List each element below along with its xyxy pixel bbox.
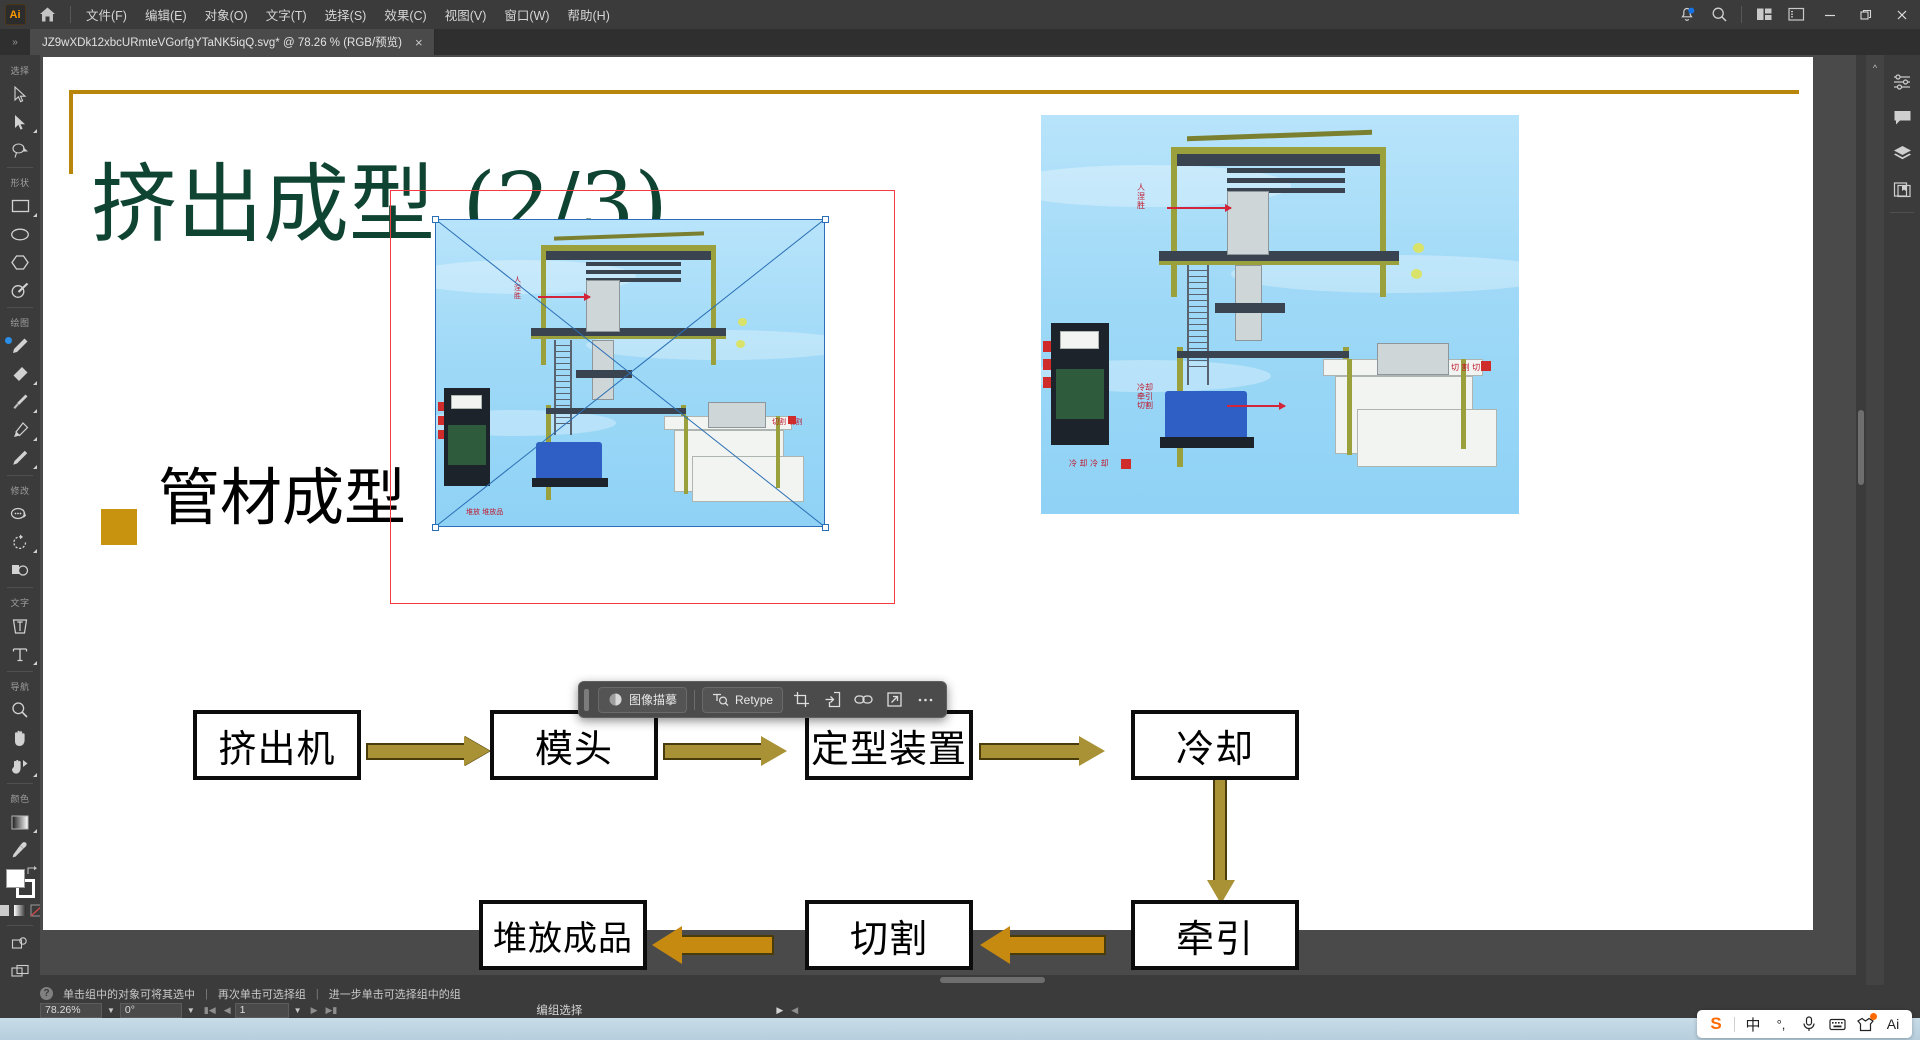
link-button[interactable] [850,687,876,713]
properties-panel-button[interactable] [1884,63,1920,99]
eraser-tool[interactable] [0,360,40,388]
flow-node-cutting[interactable]: 切割 [805,900,973,970]
tool-divider [7,671,33,672]
tools-panel: 选择 形状 [0,55,40,985]
tool-flyout-indicator [33,829,37,833]
gradient-icon [10,814,30,831]
menu-effect[interactable]: 效果(C) [375,0,435,29]
pen-tool[interactable] [0,416,40,444]
color-square-icon [0,904,10,917]
screen-mode-icon [11,964,30,979]
tool-group-label-type: 文字 [0,591,40,612]
flow-arrow-extruder-to-die [366,736,490,766]
eyedropper-icon [11,841,29,859]
ime-voice-icon[interactable] [1796,1012,1822,1036]
artboard-number-input[interactable]: 1 [235,1003,289,1018]
window-close-button[interactable] [1884,0,1920,29]
sogou-logo-icon[interactable]: S [1703,1012,1729,1036]
flow-arrow-cutting-to-stacking [652,926,774,964]
document-tab-close-icon[interactable]: × [412,36,426,49]
horizontal-scroll-thumb[interactable] [940,977,1045,983]
window-minimize-button[interactable] [1812,0,1848,29]
gradient-tool[interactable] [0,808,40,836]
rotate-tool[interactable] [0,528,40,556]
panel-rail [1884,55,1920,985]
retype-label: Retype [735,693,773,707]
layers-panel-button[interactable] [1884,135,1920,171]
document-tab[interactable]: JZ9wXDk12xbcURmteVGorfgYTaNK5iqQ.svg* @ … [30,29,435,55]
cursor-arrow-solid-icon [13,114,28,131]
ime-keyboard-icon[interactable] [1824,1012,1850,1036]
tool-divider [7,307,33,308]
libraries-panel-button[interactable] [1884,171,1920,207]
magnifier-icon [11,701,29,719]
ime-toolbar[interactable]: S 中 °, Ai [1697,1010,1912,1038]
menu-view[interactable]: 视图(V) [436,0,496,29]
blob-brush-tool[interactable] [0,444,40,472]
zoom-dropdown-chevron-down-icon[interactable]: ▼ [102,1006,120,1015]
blob-brush-icon [11,449,29,467]
lasso-tool[interactable] [0,136,40,164]
status-hint-3: 进一步单击可选择组中的组 [329,986,461,1002]
workspace-switcher-button[interactable] [1780,0,1812,29]
app-logo-icon: Ai [5,4,26,25]
tool-group-label-select: 选择 [0,59,40,80]
draw-normal-icon [11,936,29,951]
right-rail-collapse[interactable]: ^ [1866,55,1884,985]
retype-icon [712,692,729,707]
shaper-icon [11,282,30,299]
minimize-icon [1824,9,1836,21]
flow-node-die-head[interactable]: 模头 [490,710,658,780]
ctx-divider [694,690,695,710]
tool-flyout-indicator [33,549,37,553]
menu-edit[interactable]: 编辑(E) [136,0,196,29]
keyboard-icon [1829,1018,1846,1031]
question-mark-icon[interactable]: ? [40,987,53,1000]
artboard-dropdown-chevron-down-icon[interactable]: ▼ [289,1006,307,1015]
flow-node-extruder[interactable]: 挤出机 [193,710,361,780]
first-artboard-icon[interactable]: ▮◀ [200,1005,220,1016]
gradient-swatch-button[interactable] [13,904,27,922]
paintbrush-icon [11,393,29,411]
menu-bar: Ai 文件(F) 编辑(E) 对象(O) 文字(T) 选择(S) 效果(C) 视… [0,0,1920,29]
ime-language-icon[interactable]: 中 [1740,1012,1766,1036]
image-trace-button[interactable]: 图像描摹 [598,687,687,713]
smooth-tool[interactable] [0,500,40,528]
ellipse-icon [10,227,30,242]
embed-arrow-icon [824,691,841,708]
arrange-documents-button[interactable] [1748,0,1780,29]
home-button[interactable] [30,0,64,29]
libraries-icon [1893,181,1912,198]
menu-bar-right [1671,0,1920,29]
direct-selection-tool[interactable] [0,108,40,136]
menu-select[interactable]: 选择(S) [316,0,376,29]
tool-flyout-indicator [33,381,37,385]
status-bar: ? 单击组中的对象可将其选中 | 再次单击可选择组 | 进一步单击可选择组中的组… [0,985,1920,1018]
comments-panel-button[interactable] [1884,99,1920,135]
menu-help[interactable]: 帮助(H) [559,0,619,29]
status-collapse-icon[interactable]: ◀ [787,1005,802,1016]
menu-type[interactable]: 文字(T) [257,0,316,29]
bullet-marker [101,509,137,545]
arrow-out-box-icon [886,691,903,708]
flow-arrow-haul-to-cutting [980,926,1106,964]
microphone-icon [1802,1016,1816,1032]
flow-arrow-cooling-to-haul [1207,780,1235,904]
tool-flyout-indicator [33,437,37,441]
tool-group-label-shape: 形状 [0,171,40,192]
last-artboard-icon[interactable]: ▶▮ [321,1005,341,1016]
chain-link-icon [854,693,873,706]
document-tab-bar: » JZ9wXDk12xbcURmteVGorfgYTaNK5iqQ.svg* … [0,29,1920,55]
notification-bell-icon [1679,7,1695,23]
rectangle-tool[interactable] [0,192,40,220]
menu-object[interactable]: 对象(O) [196,0,257,29]
rectangle-icon [11,199,30,214]
menu-window[interactable]: 窗口(W) [495,0,558,29]
flow-arrow-die-to-sizing [663,736,787,766]
shaper-tool[interactable] [0,276,40,304]
sliders-icon [1893,73,1912,90]
zoom-level-input[interactable]: 78.26% [40,1003,102,1018]
search-button[interactable] [1703,0,1735,29]
rotate-view-tool[interactable] [0,752,40,780]
notification-bell-button[interactable] [1671,0,1703,29]
drawing-modes-button[interactable] [0,929,40,957]
status-mode-label: 编组选择 [536,1002,582,1018]
speech-bubble-icon [1893,109,1912,126]
status-controls: 78.26% ▼ 0° ▼ ▮◀ ◀ 1 ▼ ▶ ▶▮ 编组选择 ▶ ◀ [40,1002,802,1018]
canvas-area[interactable]: 挤出成型 (2/3) 管材成型 [40,55,1866,985]
placed-image-extrusion-line-large[interactable]: 人涅胜 冷却牵引切割 切 割 切 割 冷 却 冷 却 [1041,115,1519,514]
app-logo: Ai [0,0,30,29]
color-mode-buttons [0,902,40,922]
zoom-tool[interactable] [0,696,40,724]
status-expand-icon[interactable]: ▶ [772,1005,787,1016]
group-selection-bounds[interactable] [390,190,895,604]
window-restore-button[interactable] [1848,0,1884,29]
eyedropper-tool[interactable] [0,836,40,864]
embed-image-button[interactable] [819,687,845,713]
selection-tool[interactable] [0,80,40,108]
vertical-scroll-thumb[interactable] [1858,410,1864,485]
home-icon [39,6,56,23]
panel-expand-arrows[interactable]: » [0,29,30,55]
polygon-icon [11,254,29,271]
toolbar-drag-handle[interactable] [584,689,589,711]
type-T-icon [12,646,28,663]
retype-button[interactable]: Retype [702,687,783,713]
workspace-switcher-icon [1788,7,1805,22]
flow-node-haul-off[interactable]: 牵引 [1131,900,1299,970]
tool-flyout-indicator [33,129,37,133]
swap-fill-stroke-icon[interactable] [26,866,38,876]
tool-group-label-modify: 修改 [0,479,40,500]
none-square-icon [30,904,40,917]
restore-icon [1860,9,1872,21]
menu-divider [70,6,71,23]
prev-artboard-icon[interactable]: ◀ [220,1005,235,1016]
ime-skin-icon[interactable] [1852,1012,1878,1036]
tool-divider [7,925,33,926]
bullet-text: 管材成型 [158,467,406,529]
crop-icon [793,691,810,708]
fill-color-swatch[interactable] [6,869,25,888]
flow-node-cooling[interactable]: 冷却 [1131,710,1299,780]
lasso-icon [11,142,29,159]
polygon-tool[interactable] [0,248,40,276]
ellipsis-icon [917,697,934,703]
color-swatch-button[interactable] [0,904,10,922]
screen-mode-button[interactable] [0,957,40,985]
rotation-dropdown-chevron-down-icon[interactable]: ▼ [182,1006,200,1015]
menu-right-divider [1741,6,1742,23]
ime-toolbox-icon[interactable]: Ai [1880,1012,1906,1036]
rotate-icon [11,534,29,551]
none-swatch-button[interactable] [30,904,40,922]
status-hints: ? 单击组中的对象可将其选中 | 再次单击可选择组 | 进一步单击可选择组中的组 [40,985,461,1002]
tool-group-label-draw: 绘图 [0,311,40,332]
flow-node-stacking[interactable]: 堆放成品 [479,900,647,970]
arrange-documents-icon [1756,7,1773,22]
windows-taskbar [0,1018,1920,1040]
contextual-task-bar[interactable]: 图像描摹 Retype [578,681,947,718]
tool-divider [7,783,33,784]
tool-divider [7,167,33,168]
crop-image-button[interactable] [788,687,814,713]
cursor-arrow-outline-icon [13,86,28,103]
search-icon [1711,6,1728,23]
artboard[interactable]: 挤出成型 (2/3) 管材成型 [43,57,1813,930]
edit-original-button[interactable] [881,687,907,713]
pen-icon [11,421,30,439]
gradient-square-icon [13,904,27,917]
ime-divider [1734,1017,1735,1032]
tool-group-label-navigate: 导航 [0,675,40,696]
hint-divider: | [316,988,319,1000]
pencil-icon [11,337,29,355]
document-tab-title: JZ9wXDk12xbcURmteVGorfgYTaNK5iqQ.svg* @ … [42,34,402,50]
shape-builder-icon [10,562,30,578]
illustrator-window: Ai 文件(F) 编辑(E) 对象(O) 文字(T) 选择(S) 效果(C) 视… [0,0,1920,1040]
hint-divider: | [205,988,208,1000]
tool-flyout-indicator [33,409,37,413]
next-artboard-icon[interactable]: ▶ [307,1005,322,1016]
tool-flyout-indicator [33,661,37,665]
status-hint-2: 再次单击可选择组 [218,986,306,1002]
flow-node-sizing[interactable]: 定型装置 [805,710,973,780]
more-options-button[interactable] [912,687,938,713]
tool-flyout-indicator [33,773,37,777]
shape-builder-tool[interactable] [0,556,40,584]
menu-file[interactable]: 文件(F) [77,0,136,29]
tool-flyout-indicator [33,213,37,217]
ime-punctuation-icon[interactable]: °, [1768,1012,1794,1036]
tool-flyout-indicator [33,465,37,469]
canvas-horizontal-scrollbar[interactable] [40,975,1866,985]
smooth-icon [10,506,30,522]
tool-divider [7,475,33,476]
touch-type-icon [11,618,29,635]
rotate-view-icon [11,757,30,775]
flow-arrow-sizing-to-cooling [979,736,1105,766]
status-hint-1: 单击组中的对象可将其选中 [63,986,195,1002]
paintbrush-tool[interactable] [0,388,40,416]
type-tool[interactable] [0,640,40,668]
hand-icon [11,729,29,747]
layers-icon [1893,145,1912,162]
fill-stroke-swatches[interactable] [0,866,40,902]
rotation-input[interactable]: 0° [120,1003,182,1018]
tool-group-label-color: 颜色 [0,787,40,808]
ime-skin-badge [1870,1013,1877,1020]
canvas-vertical-scrollbar[interactable] [1856,55,1866,985]
pencil-tool[interactable] [0,332,40,360]
image-trace-icon [608,692,623,707]
hand-tool[interactable] [0,724,40,752]
close-icon [1896,9,1908,21]
panel-rail-divider [1890,212,1914,213]
image-trace-label: 图像描摹 [629,691,677,708]
touch-type-tool[interactable] [0,612,40,640]
eraser-icon [11,365,29,383]
ellipse-tool[interactable] [0,220,40,248]
tool-divider [7,587,33,588]
